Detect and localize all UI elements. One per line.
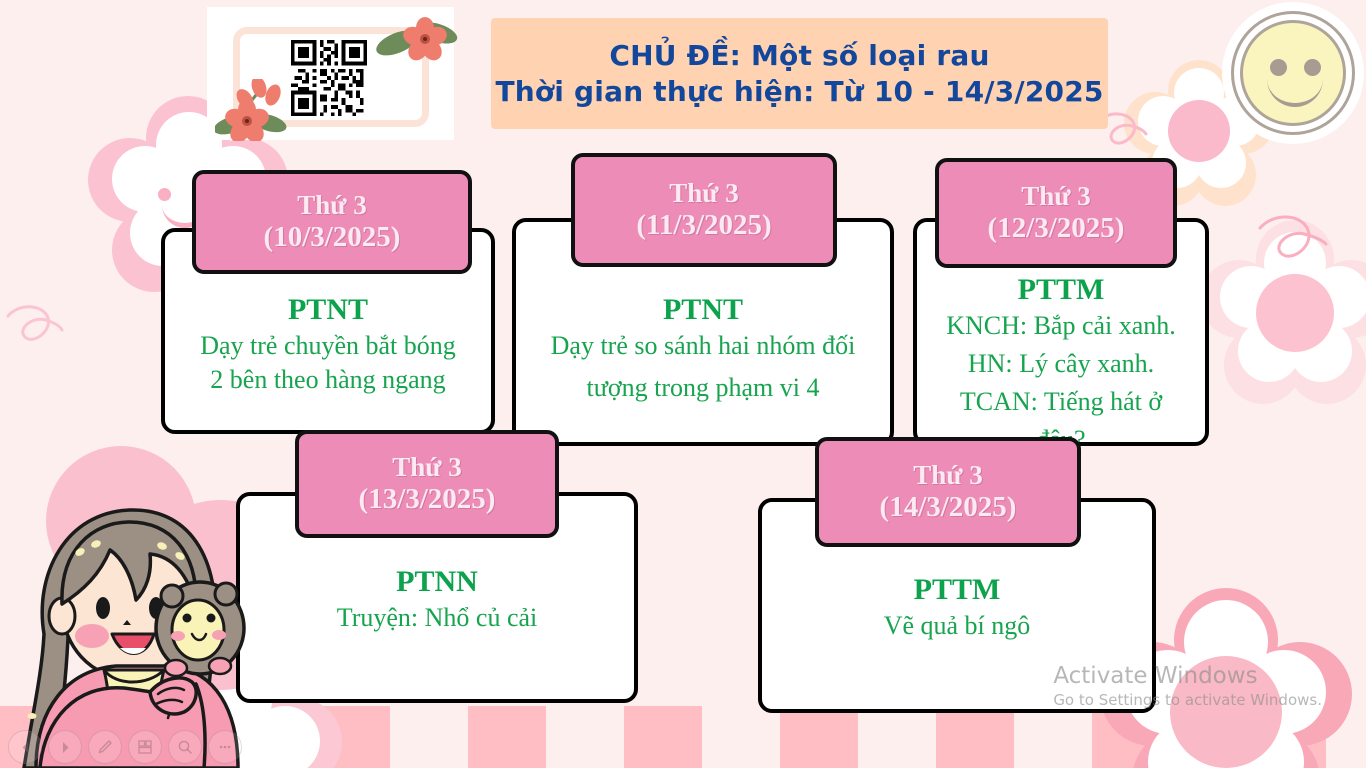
slide-title-banner: CHỦ ĐỀ: Một số loại rau Thời gian thực h… <box>491 18 1108 129</box>
next-slide-button[interactable] <box>48 730 82 764</box>
magnifier-icon <box>177 739 193 755</box>
date-header-2[interactable]: Thứ 3 (11/3/2025) <box>571 153 837 267</box>
date-header-1[interactable]: Thứ 3 (10/3/2025) <box>192 170 472 274</box>
all-slides-button[interactable] <box>128 730 162 764</box>
card-line-1-1: Dạy trẻ chuyền bắt bóng <box>173 329 483 363</box>
card-subject-3: PTTM <box>925 272 1197 307</box>
card-line-3-2: HN: Lý cây xanh. <box>925 347 1197 381</box>
card-subject-5: PTTM <box>770 572 1144 607</box>
title-line-period: Thời gian thực hiện: Từ 10 - 14/3/2025 <box>495 75 1103 108</box>
title-line-topic: CHỦ ĐỀ: Một số loại rau <box>609 39 989 72</box>
pen-tool-button[interactable] <box>88 730 122 764</box>
card-line-3-1: KNCH: Bắp cải xanh. <box>925 309 1197 343</box>
presentation-slide: CHỦ ĐỀ: Một số loại rau Thời gian thực h… <box>0 0 1366 768</box>
card-line-5-1: Vẽ quả bí ngô <box>770 609 1144 643</box>
date-header-4-date: (13/3/2025) <box>359 483 496 517</box>
date-header-2-day: Thứ 3 <box>669 178 738 209</box>
card-subject-2: PTNT <box>524 292 882 327</box>
girl-with-hamster-illustration <box>0 478 262 768</box>
pen-icon <box>97 739 113 755</box>
card-line-2-2: tượng trong phạm vi 4 <box>524 371 882 405</box>
chevron-left-icon <box>19 741 32 754</box>
card-subject-1: PTNT <box>173 292 483 327</box>
date-header-3[interactable]: Thứ 3 (12/3/2025) <box>935 158 1177 268</box>
flower-decoration-right-mid <box>1200 220 1366 410</box>
card-line-3-3: TCAN: Tiếng hát ở <box>925 385 1197 419</box>
card-line-1-2: 2 bên theo hàng ngang <box>173 363 483 397</box>
card-subject-4: PTNN <box>248 564 626 599</box>
date-header-3-date: (12/3/2025) <box>988 212 1125 246</box>
date-header-4-day: Thứ 3 <box>392 452 461 483</box>
previous-slide-button[interactable] <box>8 730 42 764</box>
ellipsis-icon <box>217 739 233 755</box>
card-line-4-1: Truyện: Nhổ củ cải <box>248 601 626 635</box>
date-header-4[interactable]: Thứ 3 (13/3/2025) <box>295 430 559 538</box>
date-header-5-date: (14/3/2025) <box>880 491 1017 525</box>
date-header-1-date: (10/3/2025) <box>264 221 401 255</box>
chevron-right-icon <box>59 741 72 754</box>
date-header-5[interactable]: Thứ 3 (14/3/2025) <box>815 437 1081 547</box>
date-header-5-day: Thứ 3 <box>913 460 982 491</box>
slideshow-toolbar[interactable] <box>8 730 242 764</box>
smiley-face-icon <box>1226 6 1360 140</box>
card-line-2-1: Dạy trẻ so sánh hai nhóm đối <box>524 329 882 363</box>
date-header-1-day: Thứ 3 <box>297 190 366 221</box>
date-header-2-date: (11/3/2025) <box>636 209 771 243</box>
zoom-button[interactable] <box>168 730 202 764</box>
date-header-3-day: Thứ 3 <box>1021 181 1090 212</box>
swirl-doodle-left <box>6 300 64 352</box>
qr-code-card <box>207 7 454 140</box>
swirl-doodle-right <box>1258 210 1328 270</box>
flower-decoration-icon-bottom <box>215 79 307 141</box>
flower-decoration-icon-top <box>375 17 459 77</box>
grid-icon <box>137 739 153 755</box>
more-options-button[interactable] <box>208 730 242 764</box>
